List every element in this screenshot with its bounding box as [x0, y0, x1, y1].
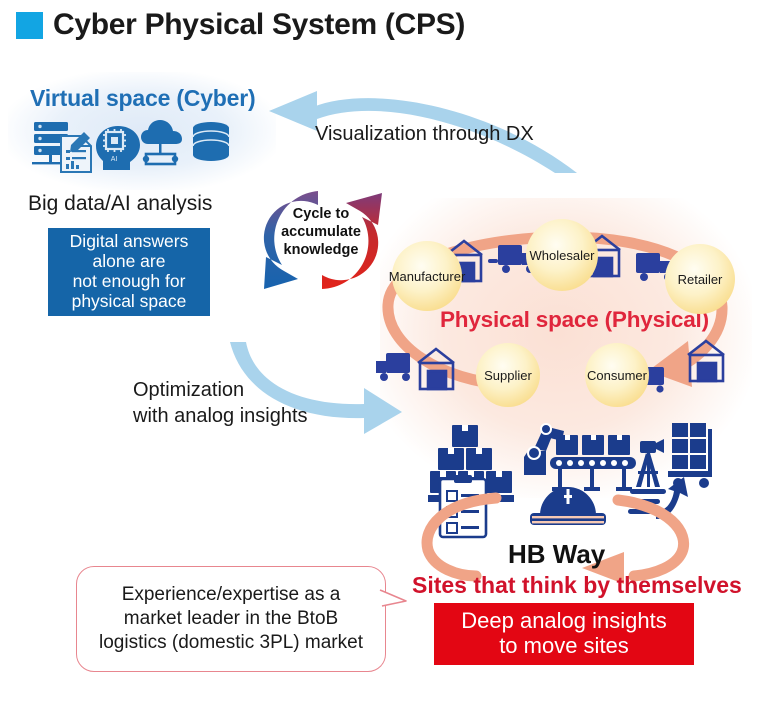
red-box-line-2: to move sites	[461, 634, 666, 659]
ai-brain-chip-icon: AI	[96, 126, 140, 170]
title-accent-square	[16, 12, 43, 39]
node-retailer[interactable]: Retailer	[665, 244, 735, 314]
digital-answers-box: Digital answers alone are not enough for…	[48, 228, 210, 316]
node-consumer-label: Consumer	[587, 368, 647, 383]
optimization-label-line-1: Optimization	[133, 378, 308, 404]
red-box-line-1: Deep analog insights	[461, 609, 666, 634]
big-data-caption: Big data/AI analysis	[28, 192, 212, 216]
cycle-line-3: knowledge	[284, 242, 359, 260]
node-consumer[interactable]: Consumer	[585, 343, 649, 407]
optimization-label-line-2: with analog insights	[133, 404, 308, 430]
virtual-space-icon-group: AI	[28, 118, 243, 174]
digital-answers-line-1: Digital answers	[70, 232, 189, 252]
node-retailer-label: Retailer	[678, 272, 723, 287]
node-manufacturer-label: Manufacturer	[389, 269, 466, 284]
callout-pointer-icon	[378, 588, 412, 612]
callout-line-2: market leader in the BtoB	[99, 607, 363, 631]
callout-line-1: Experience/expertise as a	[99, 583, 363, 607]
cycle-line-2: accumulate	[281, 224, 361, 242]
node-manufacturer[interactable]: Manufacturer	[392, 241, 462, 311]
node-supplier[interactable]: Supplier	[476, 343, 540, 407]
digital-answers-line-4: physical space	[70, 292, 189, 312]
knowledge-cycle-label: Cycle to accumulate knowledge	[269, 201, 373, 265]
page-title: Cyber Physical System (CPS)	[16, 8, 465, 42]
digital-answers-line-2: alone are	[70, 252, 189, 272]
physical-space-heading: Physical space (Physical)	[440, 307, 709, 333]
camera-tripod-icon	[636, 439, 664, 487]
callout-line-3: logistics (domestic 3PL) market	[99, 631, 363, 655]
virtual-space-heading: Virtual space (Cyber)	[30, 85, 255, 112]
experience-callout: Experience/expertise as a market leader …	[76, 566, 386, 672]
visualization-arrow-label: Visualization through DX	[315, 123, 534, 146]
node-wholesaler-label: Wholesaler	[529, 248, 594, 263]
hb-way-title: HB Way	[508, 539, 605, 570]
database-icon	[193, 122, 229, 161]
diagram-canvas: Cyber Physical System (CPS) Virtual spac…	[0, 0, 759, 701]
node-wholesaler[interactable]: Wholesaler	[526, 219, 598, 291]
hb-way-subtitle: Sites that think by themselves	[412, 572, 742, 599]
optimization-arrow-label: Optimization with analog insights	[133, 378, 308, 429]
title-text: Cyber Physical System (CPS)	[53, 8, 465, 42]
conveyor-icon	[550, 435, 636, 491]
digital-answers-line-3: not enough for	[70, 272, 189, 292]
svg-text:AI: AI	[111, 156, 118, 163]
cloud-network-icon	[141, 120, 182, 164]
cycle-line-1: Cycle to	[293, 206, 349, 224]
node-supplier-label: Supplier	[484, 368, 532, 383]
document-report-icon	[61, 132, 91, 172]
deep-analog-insights-box: Deep analog insights to move sites	[434, 603, 694, 665]
